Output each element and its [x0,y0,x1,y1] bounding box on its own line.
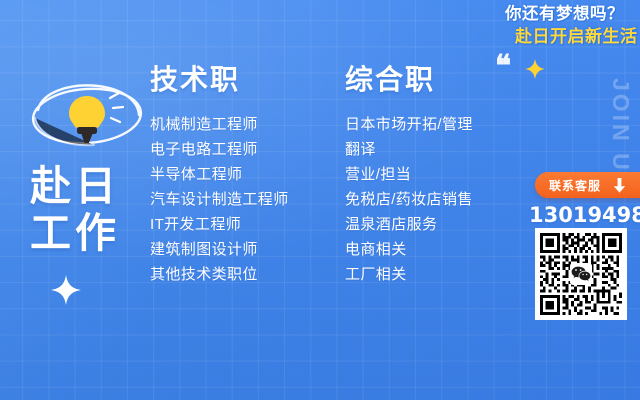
job-column-tech: 技术职 机械制造工程师 电子电路工程师 半导体工程师 汽车设计制造工程师 IT开… [150,64,289,287]
phone-number[interactable]: 13019498186 [529,203,640,227]
list-item: 营业/担当 [345,162,473,187]
quote-mark-icon: ❝ [495,52,512,82]
list-item: 免税店/药妆店销售 [345,187,473,212]
slogan-line-2: 赴日开启新生活 [515,26,640,47]
list-item: 半导体工程师 [150,162,289,187]
slogan-block: 你还有梦想吗？ 赴日开启新生活 [505,4,640,47]
lightbulb-icon [26,74,148,156]
job-column-general-heading: 综合职 [345,64,473,96]
page-title: 赴日 工作 [30,163,120,257]
list-item: IT开发工程师 [150,212,289,237]
list-item: 机械制造工程师 [150,112,289,137]
page-title-line-2: 工作 [30,210,120,257]
page-title-line-1: 赴日 [30,163,120,210]
contact-support-button-label: 联系客服 [549,177,601,194]
list-item: 温泉酒店服务 [345,212,473,237]
qr-code-icon[interactable] [535,228,627,320]
job-column-general: 综合职 日本市场开拓/管理 翻译 营业/担当 免税店/药妆店销售 温泉酒店服务 … [345,64,473,287]
star-icon [524,58,546,80]
list-item: 翻译 [345,137,473,162]
job-column-tech-heading: 技术职 [150,64,289,96]
poster-canvas: 你还有梦想吗？ 赴日开启新生活 赴日 工作 [0,0,640,400]
job-list-tech: 机械制造工程师 电子电路工程师 半导体工程师 汽车设计制造工程师 IT开发工程师… [150,112,289,287]
list-item: 建筑制图设计师 [150,237,289,262]
slogan-line-1: 你还有梦想吗？ [505,4,640,24]
job-list-general: 日本市场开拓/管理 翻译 营业/担当 免税店/药妆店销售 温泉酒店服务 电商相关… [345,112,473,287]
list-item: 其他技术类职位 [150,262,289,287]
wechat-icon [570,263,592,285]
list-item: 电子电路工程师 [150,137,289,162]
arrow-down-icon [613,178,626,193]
list-item: 工厂相关 [345,262,473,287]
list-item: 日本市场开拓/管理 [345,112,473,137]
contact-support-button[interactable]: 联系客服 [535,172,640,198]
list-item: 汽车设计制造工程师 [150,187,289,212]
sparkle-star-icon [48,272,84,308]
list-item: 电商相关 [345,237,473,262]
